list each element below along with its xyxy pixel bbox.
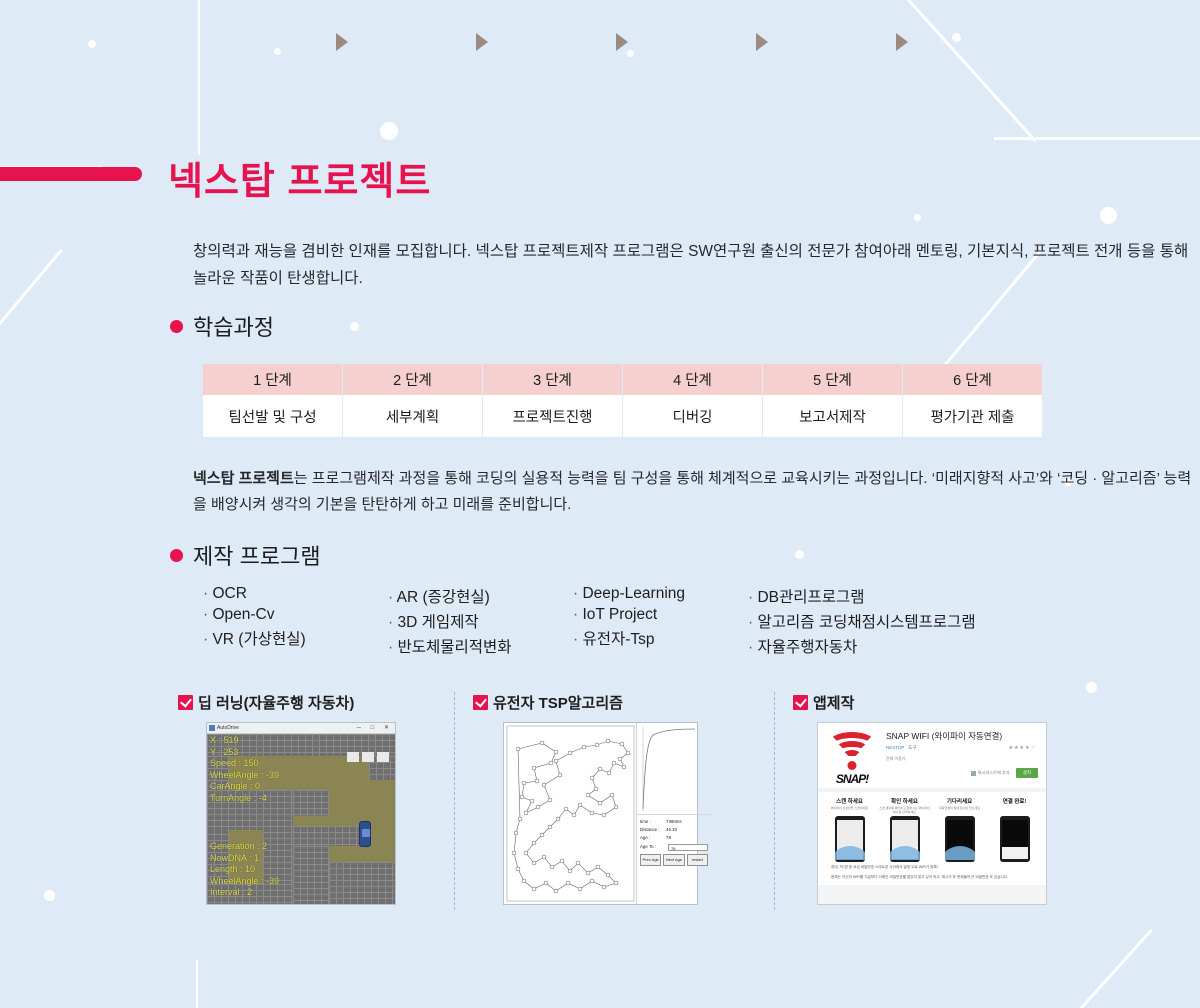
phone-mock (1000, 816, 1030, 862)
bg-dot-6 (1100, 207, 1117, 224)
wishlist-label: 위시리스트에 추가 (978, 770, 1010, 776)
section-heading-programs: 제작 프로그램 (170, 539, 321, 571)
window-title: AutoDrive (217, 725, 239, 731)
autodrive-stats-bottom: Generation : 2 NowDNA : 1 Length : 10 Wh… (210, 841, 279, 899)
tsp-time-label: time : (640, 818, 666, 826)
screenshot-subtitle: 자동연결이 될때 잠시만 있으세요 (934, 806, 985, 814)
gallery-divider (454, 692, 455, 910)
bg-diagonal-line-bottomleft (0, 249, 63, 351)
curriculum-steps: 1 단계 팀선발 및 구성 2 단계 세부계획 3 단계 프로젝트진행 4 단계… (203, 364, 1042, 437)
app-description-line2: 현재는 자신의 WiFi를 지금보다 더해진 비밀번호를 알았어 찾고 싶어 하… (824, 871, 1040, 881)
wishlist-button[interactable]: 위시리스트에 추가 (971, 770, 1010, 776)
tsp-screenshot: time : 7390ms Distance : 45.33 Age : 78 … (503, 722, 698, 905)
program-item: 자율주행자동차 (748, 635, 1028, 657)
tsp-convergence-graph (637, 723, 711, 815)
tsp-age-value: 78 (666, 834, 671, 842)
app-screenshot-item: 연결 완료! (989, 797, 1040, 862)
program-list: OCR Open-Cv VR (가상현실) AR (증강현실) 3D 게임제작 … (203, 585, 1028, 657)
app-screenshot-row: 스캔 하세요 와이파이 신호만을 스캔하세요 확인 하세요 스캔 결과를 확인하… (824, 797, 1040, 862)
tsp-distance-row: Distance : 45.33 (640, 826, 708, 834)
tsp-tour-svg (504, 723, 637, 904)
car-sprite (359, 821, 371, 847)
phone-mock (890, 816, 920, 862)
step-card: 6 단계 평가기관 제출 (903, 364, 1042, 437)
bg-dot-5 (914, 214, 921, 221)
step-card: 4 단계 디버깅 (623, 364, 762, 437)
step-arrow-icon (336, 33, 348, 51)
bg-dot-3 (380, 122, 398, 140)
program-item: Deep-Learning (573, 585, 748, 603)
phone-list-strip (1002, 847, 1028, 859)
section-heading-curriculum: 학습과정 (170, 310, 274, 342)
window-titlebar: AutoDrive ─ □ ✕ (207, 723, 395, 734)
program-item: 반도체물리적변화 (388, 635, 573, 657)
prev-age-button[interactable]: Prev Age (640, 854, 661, 866)
screenshot-caption: 확인 하세요 (879, 797, 930, 805)
app-listing-card: SNAP! SNAP WIFI (와이파이 자동연결) NEXTOP 도구 전체… (818, 723, 1046, 788)
step-task: 디버깅 (623, 395, 762, 437)
step-stage: 6 단계 (903, 364, 1042, 395)
program-column: OCR Open-Cv VR (가상현실) (203, 585, 388, 657)
gallery-item-app: 앱제작 SNAP! SNAP WIFI (와이파이 자동연결) NEXTOP 도… (793, 692, 1058, 905)
title-accent-bar (0, 167, 142, 181)
program-item: DB관리프로그램 (748, 585, 1028, 607)
screenshot-subtitle: 와이파이 신호만을 스캔하세요 (824, 806, 875, 814)
bg-dot-10 (44, 890, 55, 901)
tsp-age-to-label: Age To : (640, 843, 666, 851)
app-content-rating: 전체 이용가 (886, 756, 1038, 762)
bg-diagonal-line-bottomright (1057, 929, 1153, 1008)
bookmark-icon (971, 771, 976, 776)
restart-button[interactable]: restart (687, 854, 708, 866)
bg-diagonal-line-topright (880, 0, 1036, 142)
step-arrow-icon (756, 33, 768, 51)
section-heading-curriculum-label: 학습과정 (193, 310, 274, 342)
tsp-time-value: 7390ms (666, 818, 682, 826)
autodrive-screenshot: AutoDrive ─ □ ✕ X : 519 Y : 253 Speed : … (206, 722, 396, 905)
screenshot-subtitle (989, 806, 1040, 814)
step-card: 2 단계 세부계획 (343, 364, 482, 437)
bg-horizontal-line-right (994, 137, 1200, 140)
step-card: 3 단계 프로젝트진행 (483, 364, 622, 437)
app-rating-stars: ★★★★☆ (1009, 745, 1036, 751)
window-controls: ─ □ ✕ (357, 724, 393, 731)
autodrive-stats-top: X : 519 Y : 253 Speed : 150 WheelAngle :… (210, 735, 279, 804)
step-card: 5 단계 보고서제작 (763, 364, 902, 437)
bullet-icon (170, 320, 183, 333)
tsp-distance-value: 45.33 (666, 826, 677, 834)
tsp-tour-canvas (504, 723, 637, 904)
screenshot-caption: 연결 완료! (989, 797, 1040, 805)
app-description-line1: 휴대, PC방 등 요금 비밀번호 스마트폰 사이에서 발생 무료 WiFi가 … (824, 862, 1040, 871)
description-lead: 넥스탑 프로젝트 (193, 470, 294, 487)
program-item: OCR (203, 585, 388, 603)
app-icon (209, 725, 215, 731)
step-arrow-icon (476, 33, 488, 51)
gallery-item-tsp: 유전자 TSP알고리즘 (473, 692, 793, 905)
bg-dot-7 (627, 50, 634, 57)
wifi-dot-icon (848, 761, 857, 770)
bg-vertical-line-left (198, 0, 200, 155)
app-store-screenshot: SNAP! SNAP WIFI (와이파이 자동연결) NEXTOP 도구 전체… (817, 722, 1047, 905)
wave-decoration (945, 846, 975, 860)
app-category: 도구 (908, 745, 916, 750)
program-item: AR (증강현실) (388, 585, 573, 607)
screenshot-subtitle: 스캔 결과를 확인하고 원하시는 와이파이 하나를 선택하세요 (879, 806, 930, 814)
install-button[interactable]: 설치 (1016, 768, 1038, 778)
program-item: IoT Project (573, 606, 748, 624)
step-card: 1 단계 팀선발 및 구성 (203, 364, 342, 437)
section-heading-programs-label: 제작 프로그램 (193, 539, 321, 571)
app-screenshot-strip: 스캔 하세요 와이파이 신호만을 스캔하세요 확인 하세요 스캔 결과를 확인하… (818, 792, 1046, 885)
bullet-icon (170, 549, 183, 562)
screenshot-caption: 스캔 하세요 (824, 797, 875, 805)
app-developer[interactable]: NEXTOP (886, 745, 904, 750)
program-column: AR (증강현실) 3D 게임제작 반도체물리적변화 (388, 585, 573, 657)
program-item: 3D 게임제작 (388, 610, 573, 632)
app-metadata: SNAP WIFI (와이파이 자동연결) NEXTOP 도구 전체 이용가 위… (886, 730, 1038, 782)
gallery-item-deep-learning: 딥 러닝(자율주행 자동차) AutoDrive ─ □ ✕ (178, 692, 473, 905)
check-square-icon (793, 695, 808, 710)
step-arrow-icon (896, 33, 908, 51)
gallery-divider (774, 692, 775, 910)
description-rest: 는 프로그램제작 과정을 통해 코딩의 실용적 능력을 팀 구성을 통해 체계적… (193, 470, 1191, 513)
step-task: 평가기관 제출 (903, 395, 1042, 437)
program-item: Open-Cv (203, 606, 388, 624)
gallery-label-text: 딥 러닝(자율주행 자동차) (198, 692, 354, 713)
program-column: DB관리프로그램 알고리즘 코딩채점시스템프로그램 자율주행자동차 (748, 585, 1028, 657)
tsp-age-to-row: Age To : 78 (640, 843, 708, 851)
next-age-button[interactable]: Next Age (663, 854, 684, 866)
phone-mock (835, 816, 865, 862)
tsp-button-row: Prev Age Next Age restart (640, 854, 708, 866)
phone-mock (945, 816, 975, 862)
step-task: 팀선발 및 구성 (203, 395, 342, 437)
step-stage: 4 단계 (623, 364, 762, 395)
screenshot-caption: 기다리세요 (934, 797, 985, 805)
check-square-icon (473, 695, 488, 710)
step-stage: 3 단계 (483, 364, 622, 395)
tsp-time-row: time : 7390ms (640, 818, 708, 826)
app-screenshot-item: 스캔 하세요 와이파이 신호만을 스캔하세요 (824, 797, 875, 862)
step-stage: 2 단계 (343, 364, 482, 395)
program-item: 유전자-Tsp (573, 627, 748, 649)
project-gallery: 딥 러닝(자율주행 자동차) AutoDrive ─ □ ✕ (178, 692, 1058, 905)
tsp-graph-svg (637, 723, 697, 815)
tsp-age-label: Age : (640, 834, 666, 842)
gallery-label-text: 유전자 TSP알고리즘 (493, 692, 623, 713)
intro-paragraph: 창의력과 재능을 겸비한 인재를 모집합니다. 넥스탑 프로젝트제작 프로그램은… (193, 238, 1193, 292)
app-screenshot-item: 확인 하세요 스캔 결과를 확인하고 원하시는 와이파이 하나를 선택하세요 (879, 797, 930, 862)
bg-dot-11 (1086, 682, 1097, 693)
program-item: VR (가상현실) (203, 627, 388, 649)
curriculum-description: 넥스탑 프로젝트는 프로그램제작 과정을 통해 코딩의 실용적 능력을 팀 구성… (193, 466, 1193, 517)
gallery-label: 유전자 TSP알고리즘 (473, 692, 793, 713)
tsp-stats: time : 7390ms Distance : 45.33 Age : 78 … (637, 815, 711, 904)
tsp-distance-label: Distance : (640, 826, 666, 834)
bg-dot-2 (274, 48, 281, 55)
tsp-side-panel: time : 7390ms Distance : 45.33 Age : 78 … (637, 723, 711, 904)
app-screenshot-item: 기다리세요 자동연결이 될때 잠시만 있으세요 (934, 797, 985, 862)
wave-decoration (890, 846, 920, 860)
bg-dot-8 (350, 322, 359, 331)
step-task: 세부계획 (343, 395, 482, 437)
step-task: 보고서제작 (763, 395, 902, 437)
app-name: SNAP WIFI (와이파이 자동연결) (886, 730, 1038, 742)
snap-wordmark: SNAP! (826, 772, 878, 786)
program-column: Deep-Learning IoT Project 유전자-Tsp (573, 585, 748, 657)
check-square-icon (178, 695, 193, 710)
tsp-age-to-input[interactable]: 78 (668, 844, 708, 851)
bg-dot-9 (795, 550, 804, 559)
step-stage: 1 단계 (203, 364, 342, 395)
gallery-label: 앱제작 (793, 692, 1058, 713)
app-action-row: 위시리스트에 추가 설치 (886, 768, 1038, 778)
step-stage: 5 단계 (763, 364, 902, 395)
gallery-label-text: 앱제작 (813, 692, 854, 713)
snap-wifi-logo: SNAP! (826, 730, 878, 782)
bg-dot-1 (88, 40, 96, 48)
wave-decoration (835, 846, 865, 860)
program-item: 알고리즘 코딩채점시스템프로그램 (748, 610, 1028, 632)
tsp-age-row: Age : 78 (640, 834, 708, 842)
bg-vertical-line-bottom (196, 960, 198, 1008)
gallery-label: 딥 러닝(자율주행 자동차) (178, 692, 473, 713)
page-title: 넥스탑 프로젝트 (168, 150, 431, 205)
step-task: 프로젝트진행 (483, 395, 622, 437)
step-arrow-icon (616, 33, 628, 51)
bg-dot-4 (952, 33, 961, 42)
